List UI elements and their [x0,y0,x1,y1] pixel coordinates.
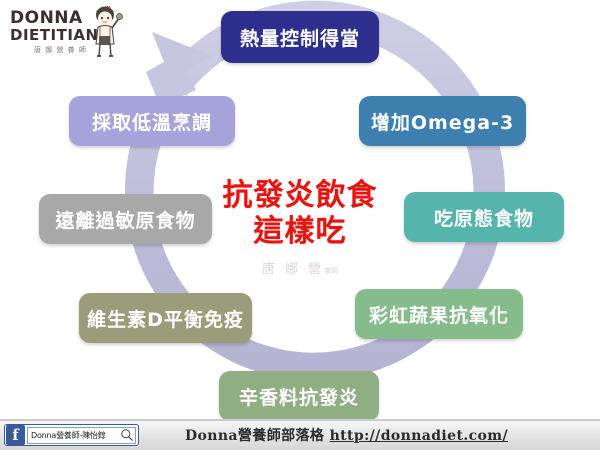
dietitian-mascot-icon [86,6,124,58]
node-label: 遠離過敏原食物 [55,206,195,233]
footer-credit: Donna營養師部落格 http://donnadiet.com/ [185,425,508,445]
footer-bar: f Donna營養師-陳怡錞 Donna營養師部落格 http://donnad… [0,420,600,450]
facebook-page-name: Donna營養師-陳怡錞 [28,430,120,441]
center-watermark: 唐 娜 營養師 [230,258,370,277]
node-label: 彩虹蔬果抗氧化 [369,301,509,328]
center-title: 抗發炎飲食 這樣吃 [205,178,395,250]
watermark-main: 唐 娜 營 [262,262,324,277]
facebook-icon[interactable]: f [6,425,25,445]
footer-credit-url[interactable]: http://donnadiet.com/ [330,428,508,444]
footer-credit-text: Donna營養師部落格 [185,428,330,444]
node-label: 採取低溫烹調 [92,108,212,135]
node-calorie-control[interactable]: 熱量控制得當 [221,11,379,63]
node-label: 維生素D平衡免疫 [87,305,244,332]
node-label: 吃原態食物 [434,204,534,231]
brand-logo-subtitle: 唐 娜 營 養 師 [34,45,87,55]
node-whole-foods[interactable]: 吃原態食物 [404,192,564,242]
facebook-page-widget[interactable]: f Donna營養師-陳怡錞 [4,424,139,446]
watermark-small: 養師 [324,267,338,275]
node-avoid-allergens[interactable]: 遠離過敏原食物 [39,194,212,244]
node-vitamin-d[interactable]: 維生素D平衡免疫 [79,293,252,343]
infographic-canvas: DONNA DIETITIAN 唐 娜 營 養 師 [0,0,600,450]
brand-logo-line1: DONNA [10,9,83,27]
node-omega-3[interactable]: 增加Omega-3 [359,96,526,146]
node-label: 辛香料抗發炎 [239,383,359,410]
brand-logo: DONNA DIETITIAN 唐 娜 營 養 師 [8,4,123,60]
magnifier-icon[interactable] [120,428,134,442]
node-spices[interactable]: 辛香料抗發炎 [219,371,379,421]
node-label: 增加Omega-3 [371,108,514,135]
node-label: 熱量控制得當 [240,24,360,51]
facebook-search-field[interactable]: Donna營養師-陳怡錞 [27,427,136,444]
node-low-temp-cooking[interactable]: 採取低溫烹調 [69,96,235,146]
center-title-line1: 抗發炎飲食 [223,178,378,213]
node-rainbow-produce[interactable]: 彩虹蔬果抗氧化 [355,289,523,339]
center-title-line2: 這樣吃 [205,214,395,250]
